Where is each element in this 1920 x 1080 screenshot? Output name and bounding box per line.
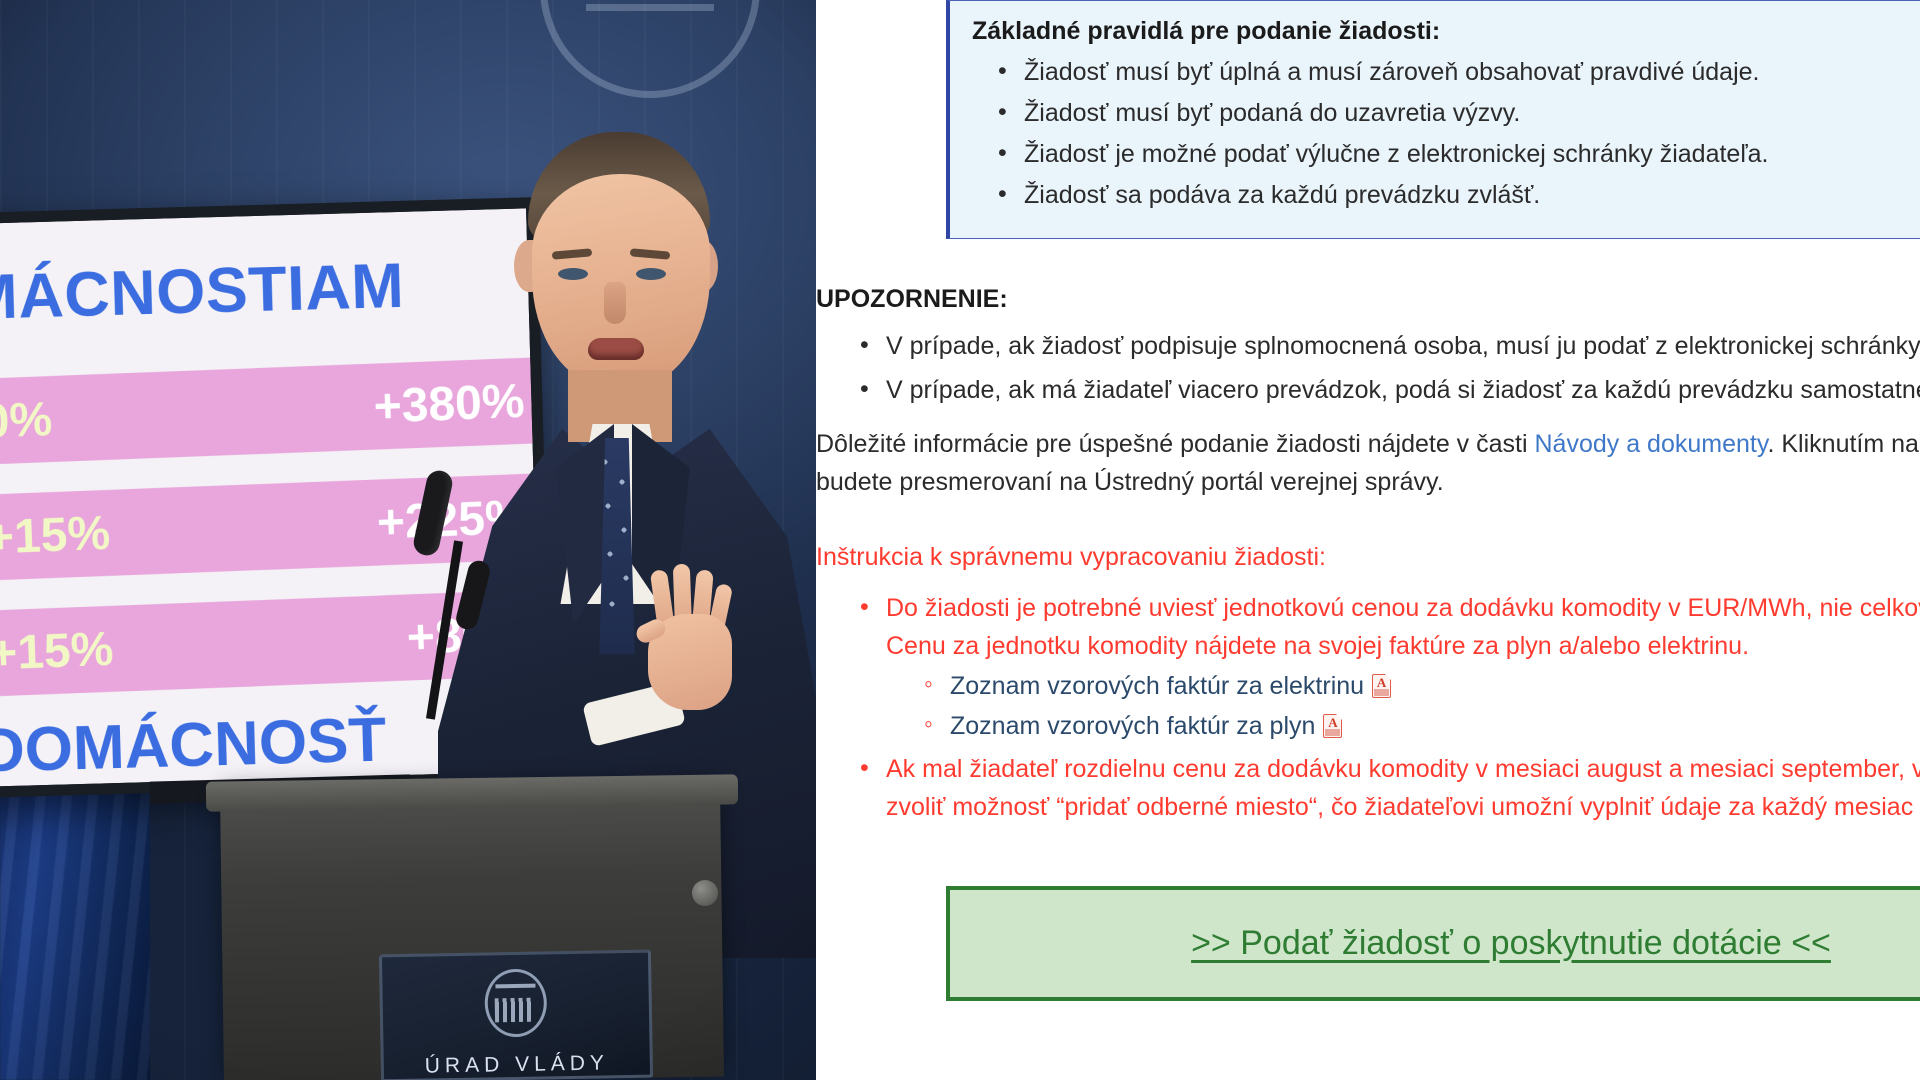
- speaker-nose: [604, 282, 626, 324]
- rules-list: Žiadosť musí byť úplná a musí zároveň ob…: [972, 54, 1920, 214]
- speaker-mouth: [588, 338, 644, 360]
- slide-row-label: +15%: [0, 505, 111, 565]
- attachment-link-elektrina[interactable]: Zoznam vzorových faktúr za elektrinu: [950, 667, 1364, 705]
- speaker-eye-right: [636, 268, 666, 280]
- info-paragraph: Dôležité informácie pre úspešné podanie …: [816, 425, 1920, 501]
- pdf-icon[interactable]: [1372, 674, 1391, 698]
- pdf-icon[interactable]: [1323, 714, 1342, 738]
- list-item: Do žiadosti je potrebné uviesť jednotkov…: [860, 590, 1920, 745]
- navody-a-dokumenty-link[interactable]: Návody a dokumenty: [1534, 430, 1767, 458]
- pdf-icon-tag: [1325, 729, 1340, 736]
- instructions-heading: Inštrukcia k správnemu vypracovaniu žiad…: [816, 543, 1920, 572]
- submit-application-label: >> Podať žiadosť o poskytnutie dotácie <…: [1191, 924, 1831, 962]
- slide-title: MÁCNOSTIAM: [0, 250, 405, 334]
- attachments-list: Zoznam vzorových faktúr za elektrinu Zoz…: [886, 667, 1920, 745]
- slide-row-label: +15%: [0, 621, 114, 681]
- list-item: Žiadosť musí byť podaná do uzavretia výz…: [1024, 95, 1920, 132]
- info-paragraph-before: Dôležité informácie pre úspešné podanie …: [816, 430, 1534, 458]
- press-conference-photo: MÁCNOSTIAM 0% +380% +15% +225% +15% +80%…: [0, 0, 816, 1080]
- lectern-knob: [692, 880, 718, 906]
- list-item: V prípade, ak žiadosť podpisuje splnomoc…: [860, 328, 1920, 366]
- warning-list: V prípade, ak žiadosť podpisuje splnomoc…: [860, 328, 1920, 409]
- instruction-text: Do žiadosti je potrebné uviesť jednotkov…: [886, 594, 1920, 660]
- rules-callout: Základné pravidlá pre podanie žiadosti: …: [946, 0, 1920, 239]
- page-root: MÁCNOSTIAM 0% +380% +15% +225% +15% +80%…: [0, 0, 1920, 1080]
- instructions-list: Do žiadosti je potrebné uviesť jednotkov…: [860, 590, 1920, 826]
- attachment-link-plyn[interactable]: Zoznam vzorových faktúr za plyn: [950, 707, 1315, 745]
- submit-application-button[interactable]: >> Podať žiadosť o poskytnutie dotácie <…: [946, 886, 1920, 1001]
- rules-callout-title: Základné pravidlá pre podanie žiadosti:: [972, 17, 1920, 46]
- slide-footer-text: DOMÁCNOSŤ: [0, 705, 387, 787]
- content-panel: Základné pravidlá pre podanie žiadosti: …: [816, 0, 1920, 1080]
- lectern-plaque-text: ÚRAD VLÁDY: [425, 1051, 610, 1078]
- speaker-eye-left: [558, 268, 588, 280]
- government-emblem-icon: [484, 968, 547, 1037]
- warning-heading: UPOZORNENIE:: [816, 285, 1920, 314]
- list-item: Ak mal žiadateľ rozdielnu cenu za dodávk…: [860, 751, 1920, 826]
- list-item: Žiadosť je možné podať výlučne z elektro…: [1024, 136, 1920, 173]
- list-item: Žiadosť sa podáva za každú prevádzku zvl…: [1024, 177, 1920, 214]
- list-item: V prípade, ak má žiadateľ viacero prevád…: [860, 372, 1920, 410]
- content-inner: Základné pravidlá pre podanie žiadosti: …: [816, 0, 1920, 1001]
- list-item[interactable]: Zoznam vzorových faktúr za plyn: [924, 707, 1920, 745]
- speaker-hand: [632, 568, 748, 718]
- list-item[interactable]: Zoznam vzorových faktúr za elektrinu: [924, 667, 1920, 705]
- list-item: Žiadosť musí byť úplná a musí zároveň ob…: [1024, 54, 1920, 91]
- cta-wrapper: >> Podať žiadosť o poskytnutie dotácie <…: [946, 886, 1920, 1001]
- slide-row-label: 0%: [0, 391, 53, 449]
- lectern-plaque: ÚRAD VLÁDY: [379, 950, 653, 1080]
- pdf-icon-tag: [1374, 689, 1389, 696]
